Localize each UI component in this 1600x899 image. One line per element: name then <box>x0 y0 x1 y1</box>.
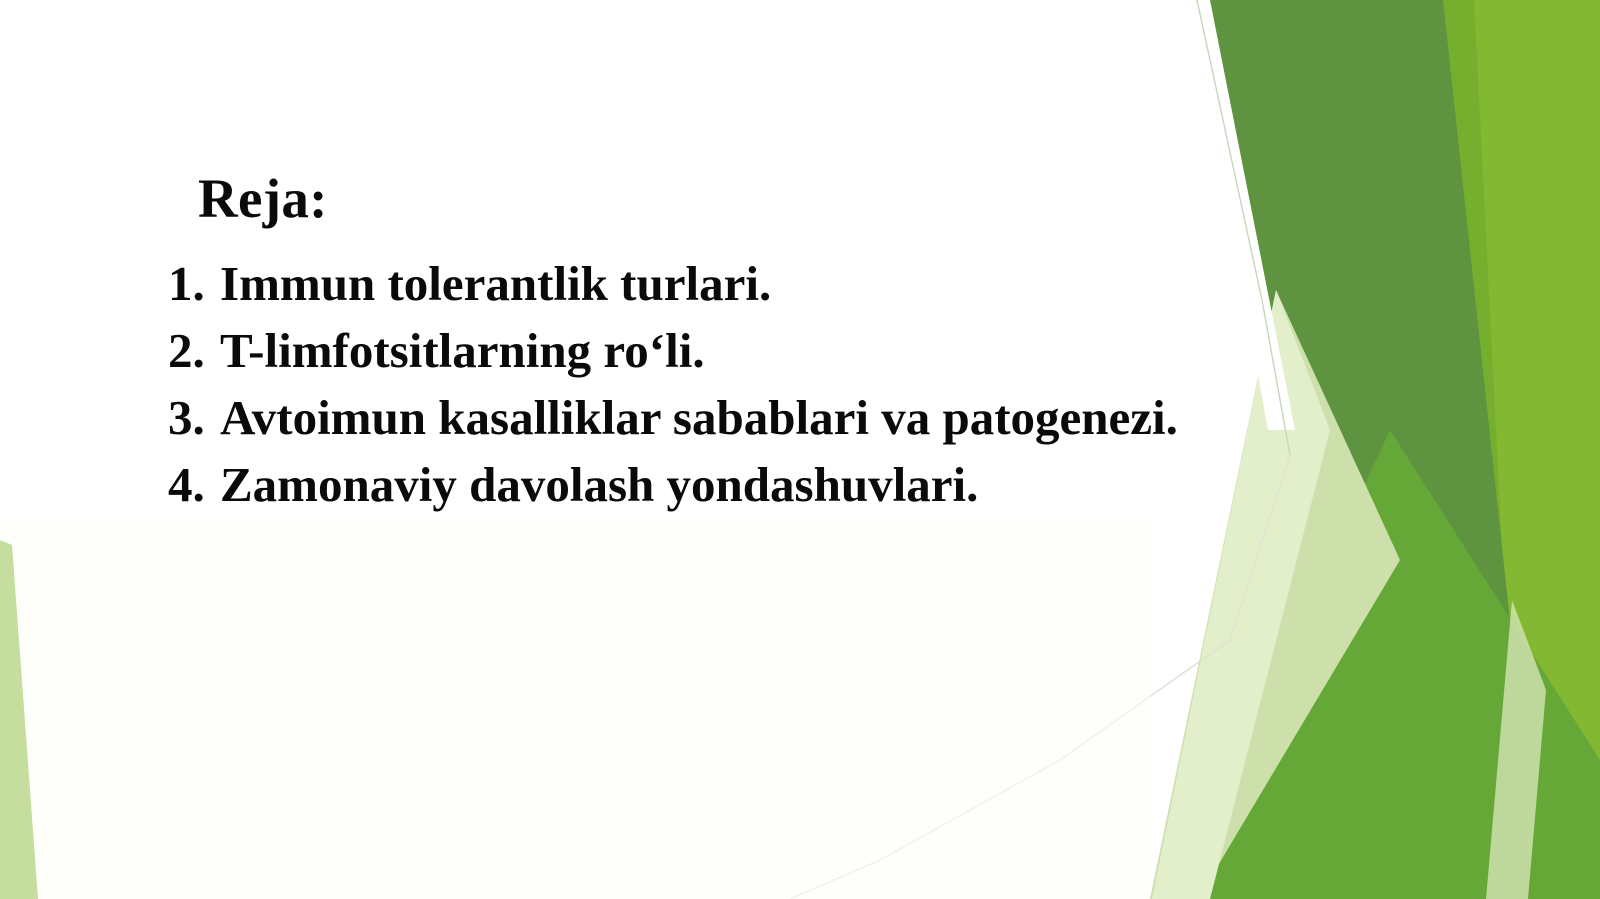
list-item: 3. Avtoimun kasalliklar sabablari va pat… <box>168 384 1288 451</box>
list-item-label: Avtoimun kasalliklar sabablari va patoge… <box>220 384 1178 451</box>
list-item-label: T-limfotsitlarning ro‘li. <box>220 317 705 384</box>
list-item-number: 1. <box>168 250 220 317</box>
list-item-label: Zamonaviy davolash yondashuvlari. <box>220 451 978 518</box>
agenda-list: 1. Immun tolerantlik turlari. 2. T-limfo… <box>168 250 1288 518</box>
list-item: 4. Zamonaviy davolash yondashuvlari. <box>168 451 1288 518</box>
page-title: Reja: <box>198 170 328 228</box>
decor-lime-field <box>1310 0 1600 899</box>
decor-right-pale-sliver <box>1486 600 1546 899</box>
list-item-number: 4. <box>168 451 220 518</box>
presentation-slide: Reja: 1. Immun tolerantlik turlari. 2. T… <box>0 0 1600 899</box>
list-item-label: Immun tolerantlik turlari. <box>220 250 771 317</box>
list-item-number: 2. <box>168 317 220 384</box>
list-item: 1. Immun tolerantlik turlari. <box>168 250 1288 317</box>
slide-content: Reja: 1. Immun tolerantlik turlari. 2. T… <box>0 0 1250 899</box>
list-item: 2. T-limfotsitlarning ro‘li. <box>168 317 1288 384</box>
list-item-number: 3. <box>168 384 220 451</box>
decor-bright-lime-wedge <box>1474 0 1600 899</box>
